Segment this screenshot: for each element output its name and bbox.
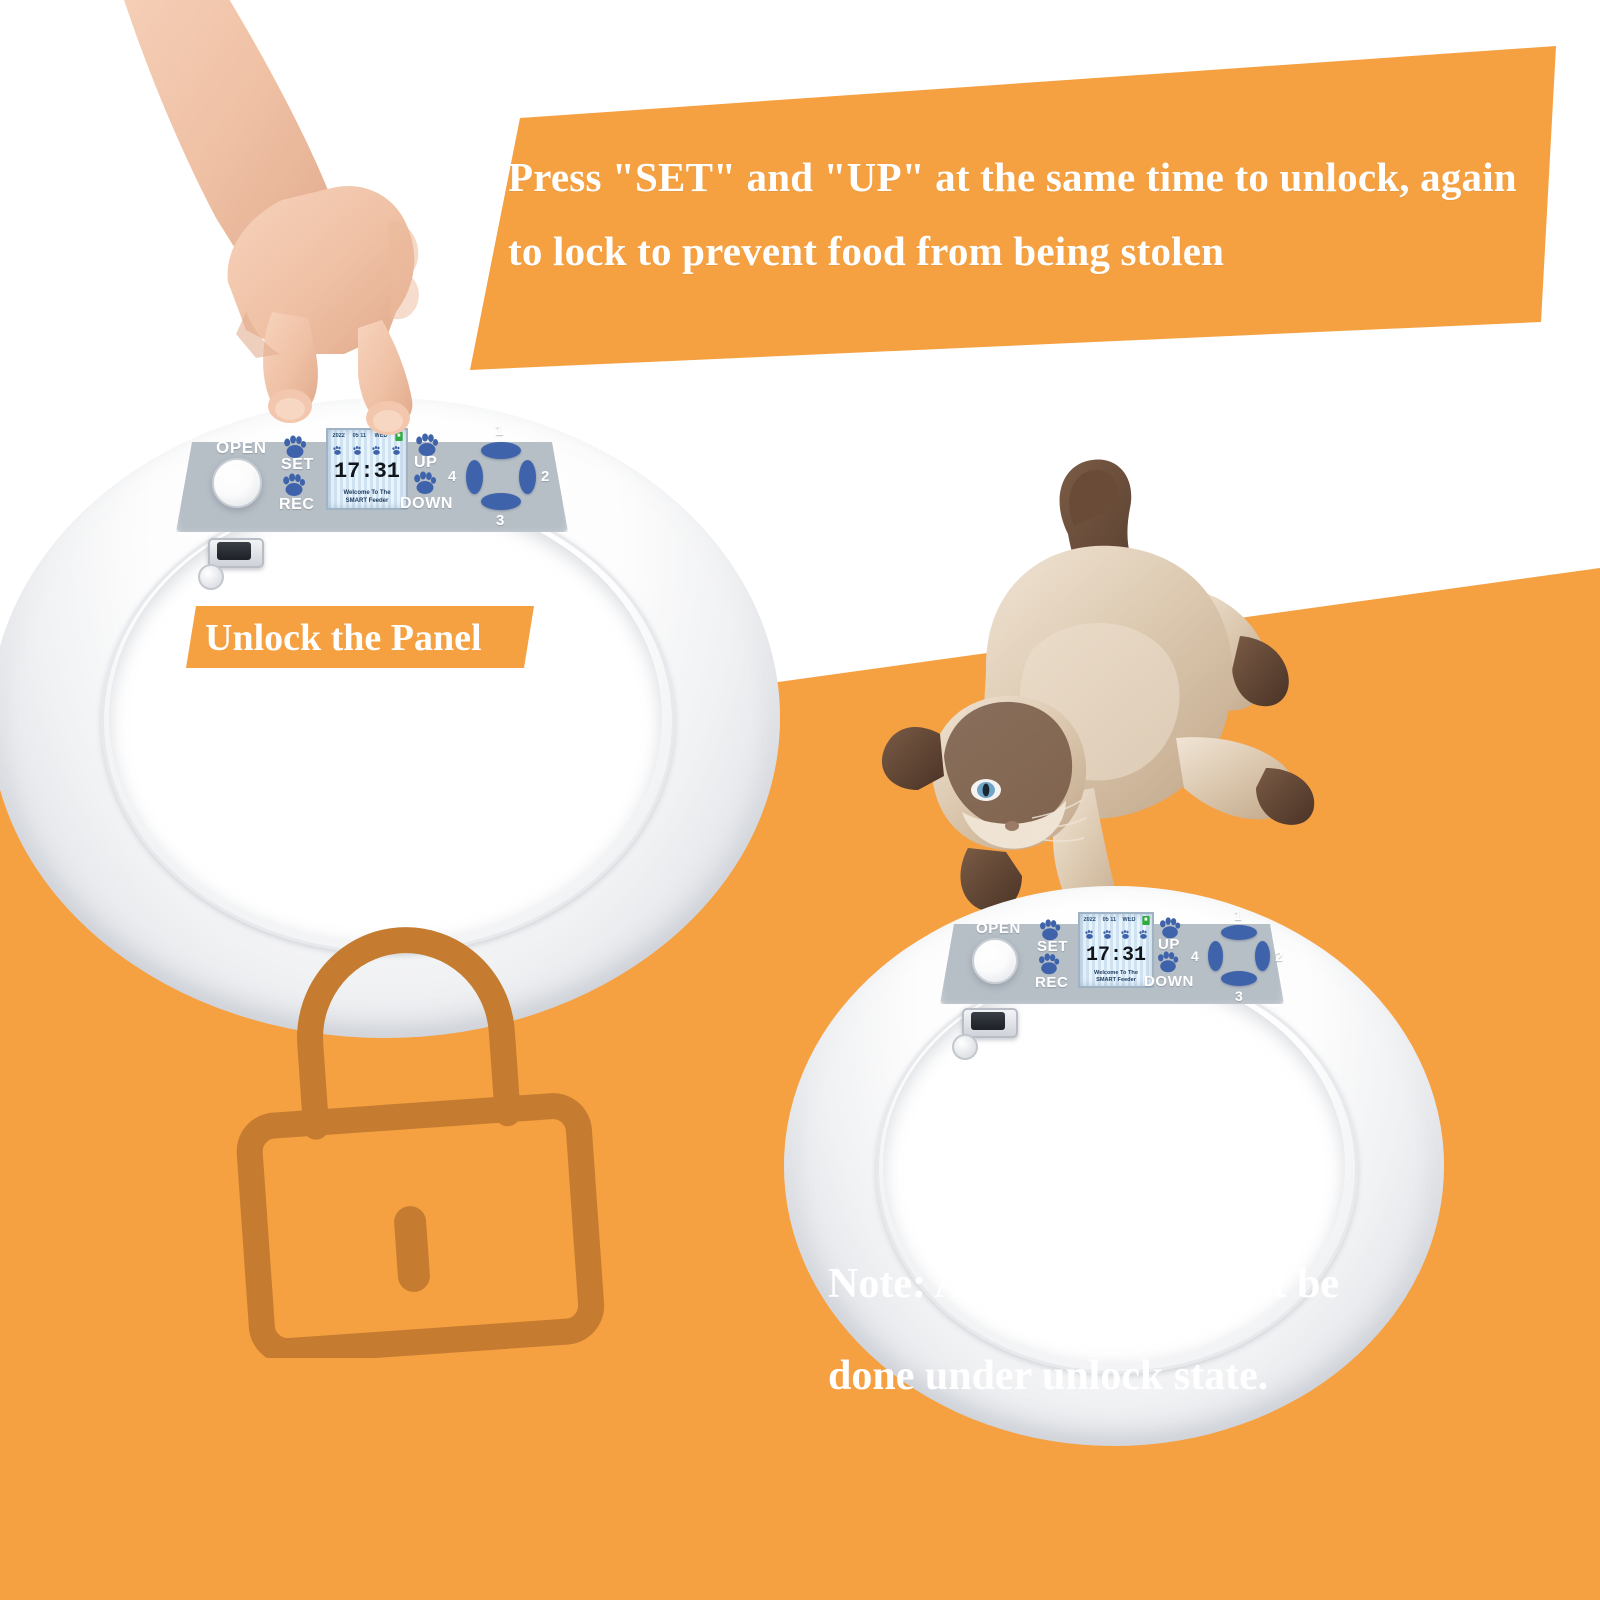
down-paw-button-bottom[interactable] xyxy=(1156,950,1180,974)
rec-paw-button-bottom[interactable] xyxy=(1037,952,1061,976)
dial-segment-2-bottom[interactable] xyxy=(1255,941,1270,971)
padlock-watermark-icon xyxy=(196,888,626,1358)
open-button-bottom[interactable] xyxy=(972,938,1018,984)
dial-number-1-bottom: 1 xyxy=(1234,907,1242,923)
note-line1: Note: All operations must be xyxy=(828,1261,1339,1307)
lcd-paw-icon-2-bottom xyxy=(1102,927,1113,938)
lcd-date-bottom: 05 11 xyxy=(1102,916,1116,925)
dial-segment-1-bottom[interactable] xyxy=(1221,925,1257,940)
dial-number-3-bottom: 3 xyxy=(1235,988,1243,1004)
dial-segment-4-top[interactable] xyxy=(466,460,483,494)
lcd-paw-icon-1-bottom xyxy=(1084,927,1095,938)
open-button-top[interactable] xyxy=(212,458,262,508)
feeder-inner-rim-top xyxy=(101,488,676,955)
rec-paw-button-top[interactable] xyxy=(281,472,307,498)
feeder-latch-window-top xyxy=(217,542,251,560)
lcd-top-icons-bottom: 2022 05 11 WED ■ xyxy=(1080,916,1152,925)
lcd-welcome-line2-top: SMART Feeder xyxy=(328,498,406,506)
lcd-welcome-line1-top: Welcome To The xyxy=(328,490,406,498)
lcd-welcome-line1-bottom: Welcome To The xyxy=(1080,970,1152,977)
feeder-latch-top xyxy=(208,538,264,568)
lcd-paw-icon-3-bottom xyxy=(1120,927,1131,938)
dial-segment-2-top[interactable] xyxy=(519,460,536,494)
feeder-latch-window-bottom xyxy=(971,1012,1005,1030)
down-label-bottom: DOWN xyxy=(1144,973,1194,990)
compartment-dial-bottom[interactable]: 1 2 3 4 xyxy=(1204,920,1274,990)
down-paw-button-top[interactable] xyxy=(412,470,438,496)
compartment-dial-top[interactable]: 1 2 3 4 xyxy=(462,436,540,514)
lcd-time-bottom: 17:31 xyxy=(1080,940,1152,970)
human-hand-pointing xyxy=(96,0,516,442)
dial-number-4-top: 4 xyxy=(448,468,456,485)
lcd-paw-icon-2-top xyxy=(352,443,363,454)
rec-label-top: REC xyxy=(279,496,315,514)
dial-segment-4-bottom[interactable] xyxy=(1208,941,1223,971)
feeder-latch-knob-bottom xyxy=(952,1034,978,1060)
lcd-meal-paw-icons-top xyxy=(328,441,406,455)
lcd-paw-icon-4-bottom xyxy=(1138,927,1149,938)
lcd-time-top: 17:31 xyxy=(328,456,406,486)
dial-segment-1-top[interactable] xyxy=(481,442,521,459)
top-instruction-line2: to lock to prevent food from being stole… xyxy=(508,214,1568,288)
lcd-welcome-bottom: Welcome To The SMART Feeder xyxy=(1080,970,1152,984)
down-label-top: DOWN xyxy=(400,495,453,513)
lcd-paw-icon-1-top xyxy=(332,443,343,454)
lcd-weekday-bottom: WED xyxy=(1123,916,1136,925)
lcd-paw-icon-4-top xyxy=(391,443,402,454)
lcd-meal-paw-icons-bottom xyxy=(1080,925,1152,939)
note-line2: done under unlock state. xyxy=(828,1330,1528,1422)
feeder-latch-bottom xyxy=(962,1008,1018,1038)
dial-segment-3-bottom[interactable] xyxy=(1221,971,1257,986)
lcd-year-bottom: 2022 xyxy=(1083,916,1095,925)
battery-icon-bottom: ■ xyxy=(1142,916,1149,925)
siamese-cat-image xyxy=(836,438,1336,958)
dial-number-3-top: 3 xyxy=(496,512,504,529)
lcd-welcome-line2-bottom: SMART Feeder xyxy=(1080,977,1152,984)
dial-number-4-bottom: 4 xyxy=(1191,948,1199,964)
lcd-display-bottom: 2022 05 11 WED ■ 17:31 Welcome To The SM… xyxy=(1078,912,1154,988)
note-text-block: Note: All operations must be done under … xyxy=(828,1238,1528,1422)
lcd-paw-icon-3-top xyxy=(371,443,382,454)
dial-number-2-bottom: 2 xyxy=(1275,948,1283,964)
feeder-latch-knob-top xyxy=(198,564,224,590)
dial-segment-3-top[interactable] xyxy=(481,493,521,510)
top-instruction-text: Press "SET" and "UP" at the same time to… xyxy=(508,140,1568,288)
unlock-panel-label: Unlock the Panel xyxy=(205,612,545,664)
open-label-bottom: OPEN xyxy=(976,920,1021,937)
lcd-welcome-top: Welcome To The SMART Feeder xyxy=(328,490,406,505)
infographic-canvas: Press "SET" and "UP" at the same time to… xyxy=(0,0,1600,1600)
top-instruction-line1: Press "SET" and "UP" at the same time to… xyxy=(508,154,1517,200)
rec-label-bottom: REC xyxy=(1035,974,1068,991)
dial-number-2-top: 2 xyxy=(541,468,549,485)
